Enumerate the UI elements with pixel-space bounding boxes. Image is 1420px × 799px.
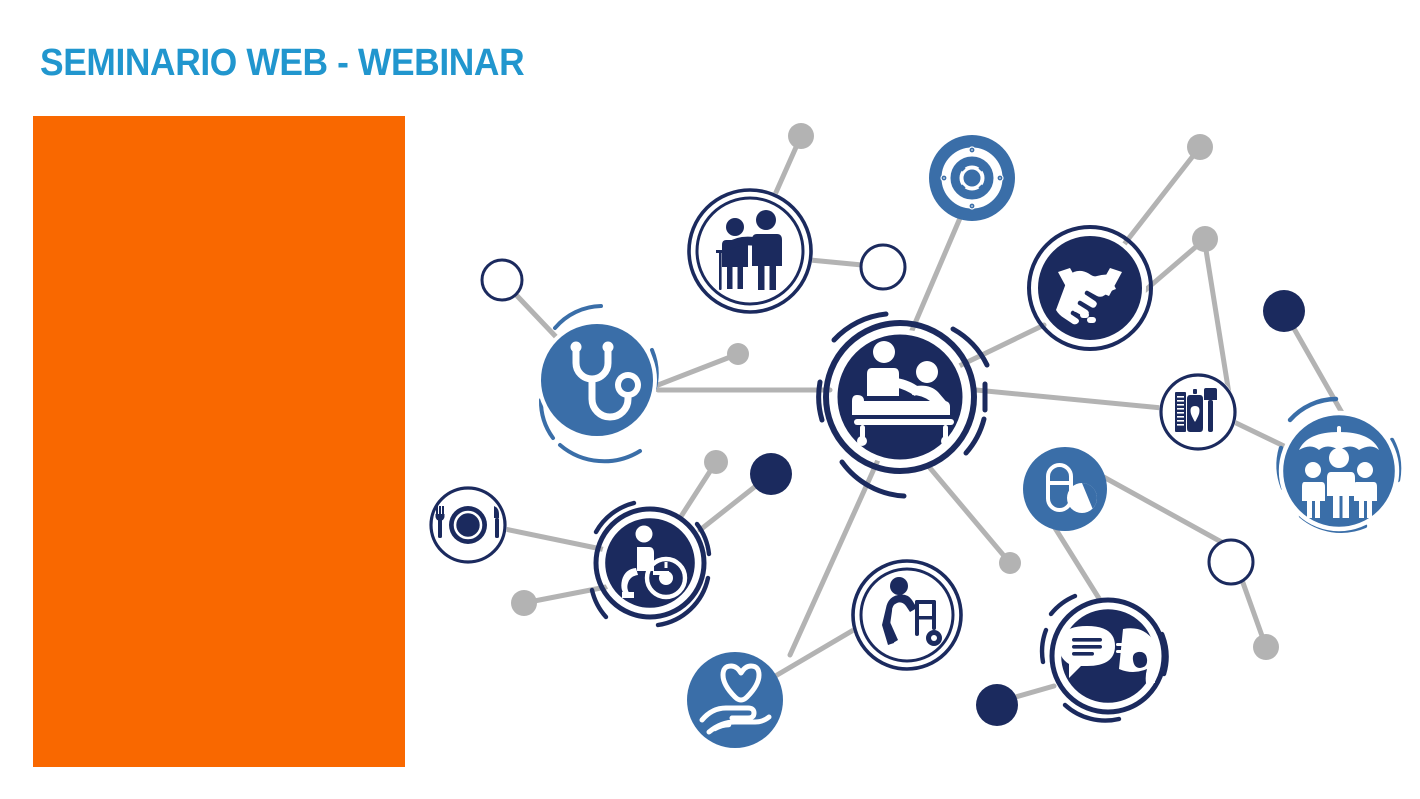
grey-dot <box>1187 134 1213 160</box>
grey-dot <box>999 552 1021 574</box>
grey-dot <box>727 343 749 365</box>
node-lifebuoy <box>929 135 1015 221</box>
node-caregiver-support <box>687 188 813 314</box>
grey-dot <box>704 450 728 474</box>
node-hygiene <box>1159 373 1237 451</box>
family-umbrella-icon <box>1299 426 1379 518</box>
node-handshake <box>1029 227 1151 349</box>
grey-dot <box>1253 634 1279 660</box>
ring-dot <box>861 245 905 289</box>
node-elderly-walker <box>851 559 963 671</box>
page-title: SEMINARIO WEB - WEBINAR <box>40 42 524 85</box>
node-communication <box>1042 596 1166 721</box>
node-pills <box>1023 447 1107 531</box>
ring-dot <box>1209 540 1253 584</box>
navy-dot <box>976 684 1018 726</box>
image-placeholder-panel <box>33 116 405 767</box>
navy-dot <box>750 453 792 495</box>
node-family-umbrella <box>1279 399 1399 531</box>
healthcare-network-illustration: .edge { stroke:#B3B3B3; stroke-width:5; … <box>410 100 1420 799</box>
node-stethoscope <box>539 306 657 461</box>
node-heart-in-hand <box>687 652 783 748</box>
grey-dot <box>1192 226 1218 252</box>
node-meal <box>429 486 507 564</box>
grey-dot <box>511 590 537 616</box>
node-central-care <box>819 314 987 496</box>
node-wheelchair <box>592 503 709 625</box>
ring-dot <box>482 260 522 300</box>
slide-canvas: SEMINARIO WEB - WEBINAR .edge { stroke:#… <box>0 0 1420 799</box>
navy-dot <box>1263 290 1305 332</box>
grey-dot <box>788 123 814 149</box>
